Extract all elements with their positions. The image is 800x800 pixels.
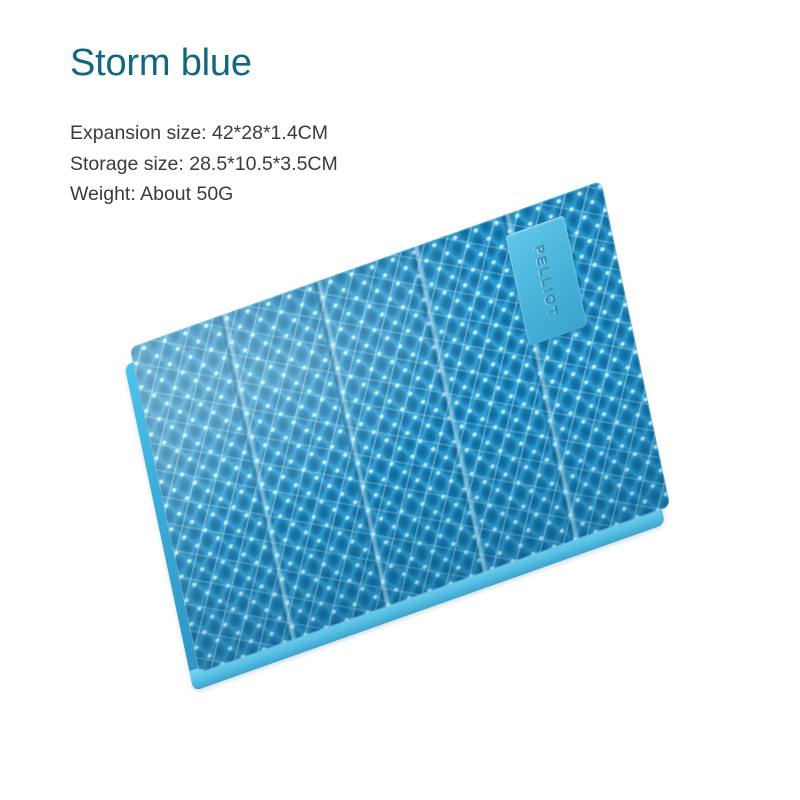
fold-crease-4 xyxy=(499,200,582,555)
bump-texture-dimples-alt xyxy=(130,181,671,673)
mat-top-face: PELLIOT xyxy=(130,181,671,673)
fold-crease-1 xyxy=(217,300,300,655)
page-title: Storm blue xyxy=(70,44,490,84)
mat-side-edge xyxy=(189,504,665,691)
foam-seat-mat: PELLIOT xyxy=(130,181,671,673)
product-info-block: Storm blue Expansion size: 42*28*1.4CM S… xyxy=(70,44,490,210)
spec-weight: Weight: About 50G xyxy=(70,179,490,210)
bump-texture-highlights xyxy=(130,181,671,673)
bump-texture-highlights-alt xyxy=(130,181,671,673)
spec-expansion-size: Expansion size: 42*28*1.4CM xyxy=(70,118,490,149)
fold-crease-3 xyxy=(407,232,490,587)
bump-texture-webbing xyxy=(130,181,671,673)
spec-storage-size: Storage size: 28.5*10.5*3.5CM xyxy=(70,149,490,180)
mat-lighting-overlay xyxy=(130,181,671,673)
bump-texture-dimples xyxy=(130,181,671,673)
mat-outline xyxy=(130,181,671,673)
brand-logo-text: PELLIOT xyxy=(532,242,561,319)
fold-crease-2 xyxy=(311,267,394,622)
mat-thickness-edge xyxy=(124,199,665,691)
brand-logo-patch: PELLIOT xyxy=(505,215,587,346)
spec-list: Expansion size: 42*28*1.4CM Storage size… xyxy=(70,118,490,210)
